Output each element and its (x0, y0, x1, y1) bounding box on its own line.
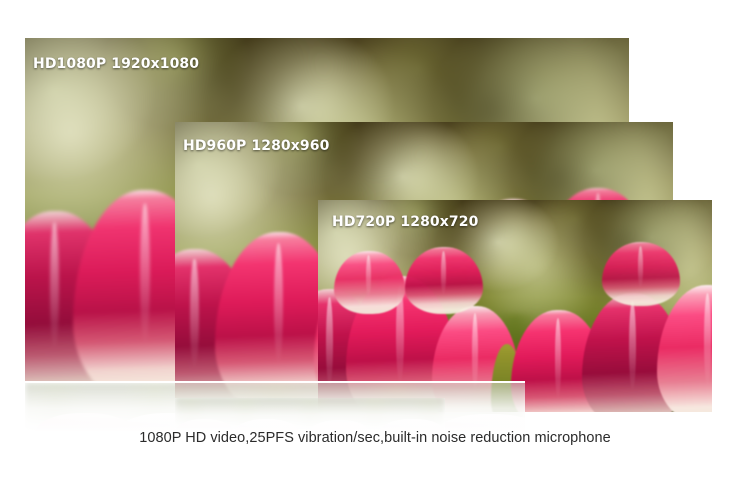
panel-divider-line (25, 381, 525, 383)
resolution-label-hd720p: HD720P 1280x720 (332, 214, 478, 230)
resolution-label-hd1080p: HD1080P 1920x1080 (33, 56, 199, 72)
tulip-bloom (334, 251, 405, 315)
feature-caption: 1080P HD video,25PFS vibration/sec,built… (0, 430, 750, 446)
resolution-label-hd960p: HD960P 1280x960 (183, 138, 329, 154)
product-image-canvas: HD1080P 1920x1080 HD960P 1280x960 (0, 0, 750, 493)
